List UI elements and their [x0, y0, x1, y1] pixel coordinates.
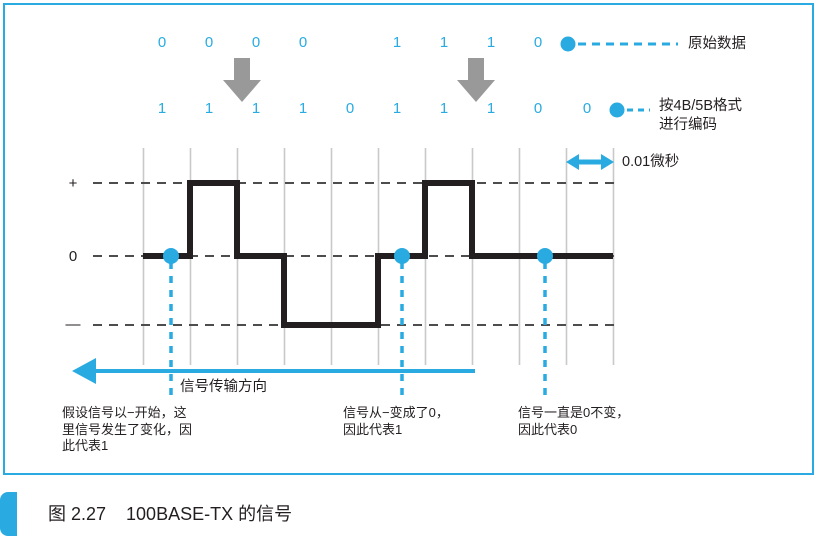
measurement-dot-2	[394, 248, 410, 264]
original-bit-0: 0	[152, 35, 172, 50]
encoded-bit-1: 1	[199, 101, 219, 116]
encoded-bit-6: 1	[434, 101, 454, 116]
encoded-bit-9: 0	[577, 101, 597, 116]
bit-period-label: 0.01微秒	[622, 155, 679, 170]
original-bit-5: 1	[434, 35, 454, 50]
encoded-data-leader	[610, 103, 651, 118]
original-bit-2: 0	[246, 35, 266, 50]
caption-accent-mask	[17, 492, 47, 536]
original-bit-7: 0	[528, 35, 548, 50]
level-label-minus: —	[64, 317, 82, 332]
original-bit-6: 1	[481, 35, 501, 50]
encoded-bit-7: 1	[481, 101, 501, 116]
measurement-dot-3	[537, 248, 553, 264]
figure-caption-text: 图 2.27 100BASE-TX 的信号	[48, 501, 292, 527]
encoded-bit-5: 1	[387, 101, 407, 116]
mapping-arrow-left	[223, 58, 261, 102]
encoded-bit-8: 0	[528, 101, 548, 116]
original-data-label: 原始数据	[688, 35, 746, 54]
level-label-plus: +	[64, 176, 82, 191]
signal-flow-arrow	[72, 358, 475, 384]
note-2: 信号从−变成了0， 因此代表1	[343, 405, 449, 438]
bit-period-indicator	[566, 154, 614, 170]
figure-caption-bar: 图 2.27 100BASE-TX 的信号	[0, 492, 823, 536]
encoded-bit-2: 1	[246, 101, 266, 116]
mapping-arrow-right	[457, 58, 495, 102]
encoded-bit-0: 1	[152, 101, 172, 116]
encoded-bit-3: 1	[293, 101, 313, 116]
original-bit-3: 0	[293, 35, 313, 50]
measurement-dot-1	[163, 248, 179, 264]
signal-flow-label: 信号传输方向	[180, 380, 267, 395]
encoded-data-label: 按4B/5B格式 进行编码	[659, 97, 742, 135]
original-data-dot	[561, 37, 576, 52]
level-label-zero: 0	[64, 249, 82, 264]
encoded-bit-4: 0	[340, 101, 360, 116]
original-data-leader	[561, 37, 679, 52]
encoded-data-dot	[610, 103, 625, 118]
original-bit-4: 1	[387, 35, 407, 50]
note-3: 信号一直是0不变， 因此代表0	[518, 405, 629, 438]
mapping-arrows	[223, 58, 495, 102]
original-bit-1: 0	[199, 35, 219, 50]
note-1: 假设信号以−开始，这 里信号发生了变化，因 此代表1	[62, 405, 192, 455]
